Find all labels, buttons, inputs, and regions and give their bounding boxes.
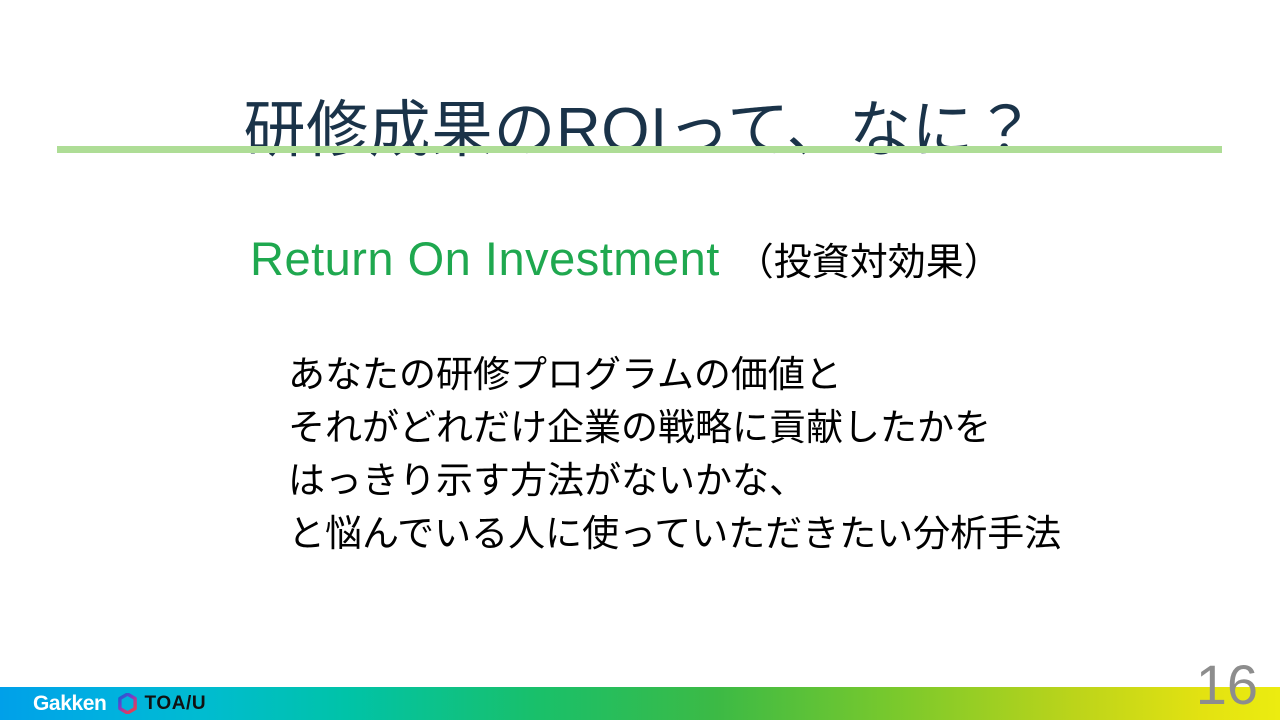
toasu-wordmark: TOA/U [144,694,206,713]
subtitle-japanese: （投資対効果） [736,244,1002,282]
body-line: それがどれだけ企業の戦略に貢献したかを [288,401,1118,454]
body-line: あなたの研修プログラムの価値と [288,348,1118,401]
subtitle-row: Return On Investment （投資対効果） [250,235,1002,282]
hexagon-ring-icon [117,693,138,714]
gakken-logo: Gakken [33,693,106,714]
body-line: はっきり示す方法がないかな、 [288,454,1118,507]
slide-canvas: 研修成果のROIって、なに？ Return On Investment （投資対… [0,0,1280,720]
body-text-block: あなたの研修プログラムの価値と それがどれだけ企業の戦略に貢献したかを はっきり… [288,348,1118,560]
page-number: 16 [1196,657,1258,713]
footer-gradient-bar: Gakken TOA/U [0,687,1280,720]
footer-logo-group: Gakken TOA/U [33,687,206,720]
title-divider [57,146,1222,153]
subtitle-english: Return On Investment [250,235,720,282]
toasu-logo: TOA/U [117,693,206,714]
body-line: と悩んでいる人に使っていただきたい分析手法 [288,507,1118,560]
